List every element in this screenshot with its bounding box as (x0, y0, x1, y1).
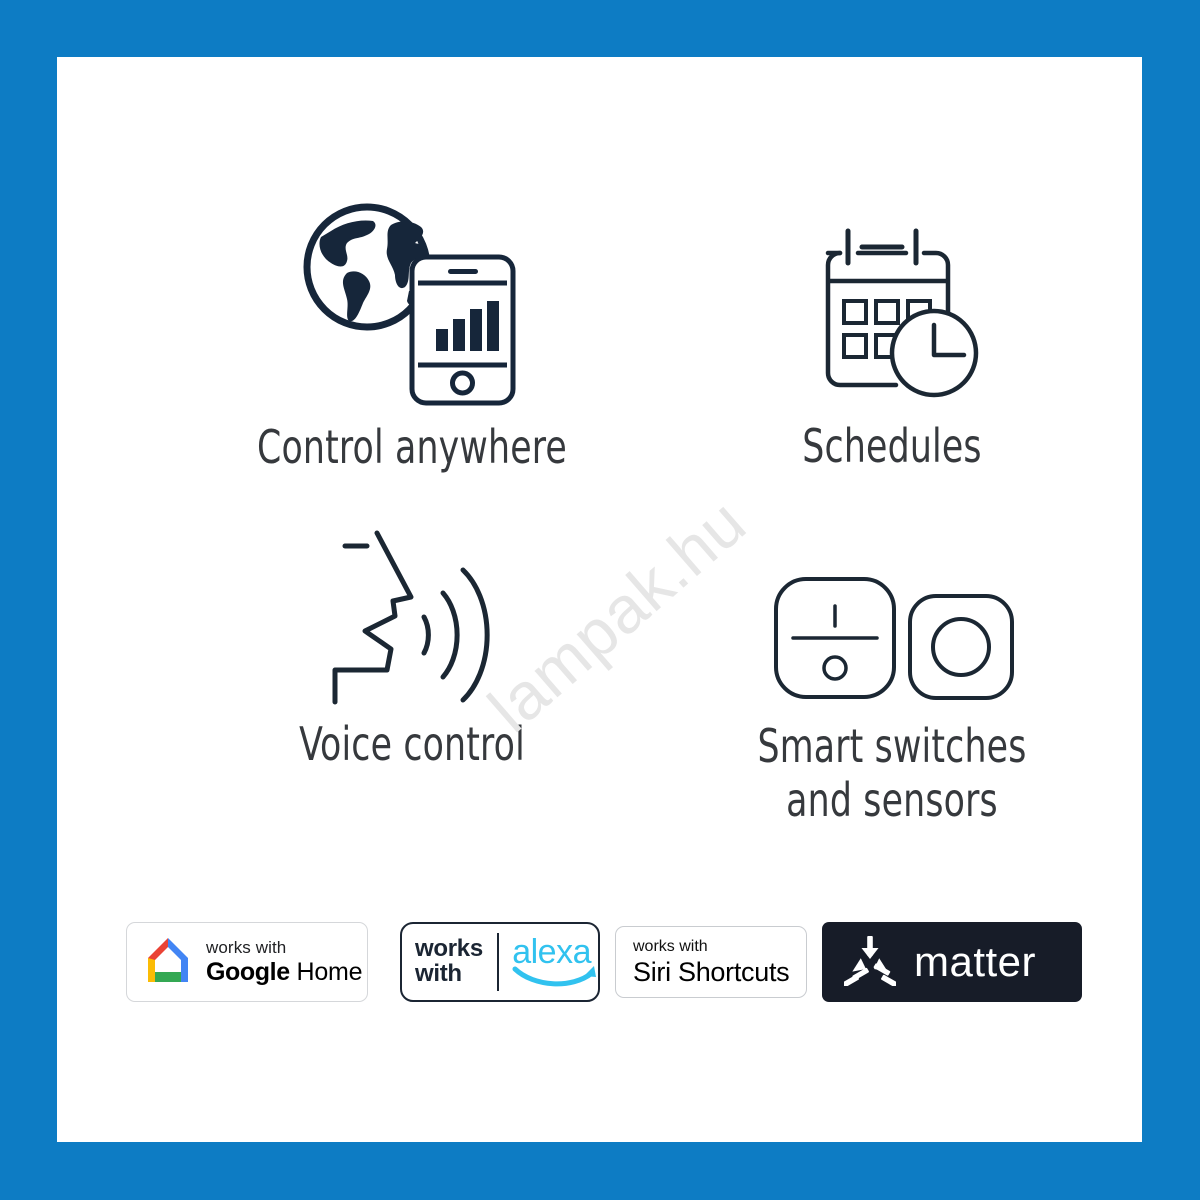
alexa-divider (497, 933, 499, 991)
feature-label: Smart switches and sensors (695, 719, 1090, 828)
badge-works-with-google-home[interactable]: works with Google Home (126, 922, 368, 1002)
google-wordmark: Google (206, 958, 290, 986)
speaking-face-icon (162, 517, 662, 707)
badge-matter[interactable]: matter (822, 922, 1082, 1002)
siri-badge-text: works with Siri Shortcuts (633, 939, 789, 986)
switch-sensor-icon (657, 549, 1127, 709)
google-home-house-icon (141, 934, 195, 991)
siri-brand-label: Siri Shortcuts (633, 959, 789, 986)
feature-schedules: Schedules (657, 219, 1127, 473)
google-badge-text: works with Google Home (206, 939, 362, 985)
badge-works-with-siri-shortcuts[interactable]: works with Siri Shortcuts (615, 926, 807, 998)
siri-works-with-label: works with (633, 939, 789, 955)
amazon-smile-icon: alexa (512, 933, 598, 991)
feature-label: Voice control (202, 717, 622, 771)
compatibility-badge-row: works with Google Home works with alexa (57, 922, 1142, 1012)
alexa-with-line: with (415, 962, 483, 987)
matter-wordmark: matter (914, 941, 1036, 983)
globe-phone-icon (162, 195, 662, 410)
feature-label: Control anywhere (202, 420, 622, 474)
google-works-with-label: works with (206, 939, 362, 956)
badge-works-with-alexa[interactable]: works with alexa (400, 922, 600, 1002)
feature-grid: Control anywhere (57, 157, 1142, 917)
white-content-panel: Control anywhere (57, 57, 1142, 1142)
feature-smart-switches: Smart switches and sensors (657, 549, 1127, 828)
feature-voice-control: Voice control (162, 517, 662, 771)
google-brand-label: Google Home (206, 960, 362, 985)
matter-arrows-icon (844, 934, 896, 991)
home-wordmark: Home (290, 958, 363, 986)
feature-label: Schedules (695, 419, 1090, 473)
blue-frame-background: Control anywhere (0, 0, 1200, 1200)
feature-control-anywhere: Control anywhere (162, 195, 662, 474)
alexa-works-line: works (415, 937, 483, 962)
alexa-works-with-label: works with (415, 937, 483, 987)
calendar-clock-icon (657, 219, 1127, 409)
